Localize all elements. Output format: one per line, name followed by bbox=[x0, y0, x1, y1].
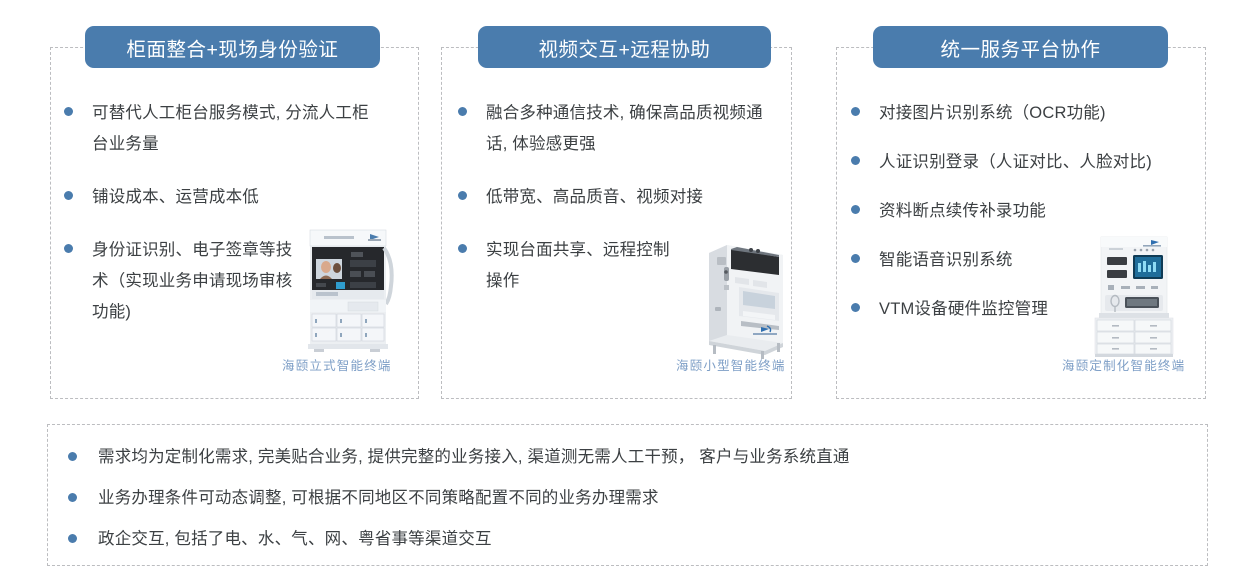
bullet-list-unified-platform: 对接图片识别系统（OCR功能) 人证识别登录（人证对比、人脸对比) 资料断点续传… bbox=[851, 98, 1201, 343]
bullet-dot-icon bbox=[64, 191, 73, 200]
bullet-dot-icon bbox=[68, 493, 77, 502]
list-item: 实现台面共享、远程控制操作 bbox=[458, 235, 788, 297]
list-item-text: 人证识别登录（人证对比、人脸对比) bbox=[879, 147, 1152, 178]
list-item-text: 铺设成本、运营成本低 bbox=[92, 182, 259, 213]
list-item-text: 融合多种通信技术, 确保高品质视频通话, 体验感更强 bbox=[486, 98, 776, 160]
bullet-dot-icon bbox=[458, 244, 467, 253]
list-item: 人证识别登录（人证对比、人脸对比) bbox=[851, 147, 1201, 178]
list-item: 融合多种通信技术, 确保高品质视频通话, 体验感更强 bbox=[458, 98, 788, 160]
list-item-text: 智能语音识别系统 bbox=[879, 245, 1013, 276]
list-item: 可替代人工柜台服务模式, 分流人工柜台业务量 bbox=[64, 98, 409, 160]
list-item: 政企交互, 包括了电、水、气、网、粤省事等渠道交互 bbox=[68, 522, 1188, 555]
list-item: 业务办理条件可动态调整, 可根据不同地区不同策略配置不同的业务办理需求 bbox=[68, 481, 1188, 514]
list-item-text: VTM设备硬件监控管理 bbox=[879, 294, 1048, 325]
list-item-text: 身份证识别、电子签章等技术（实现业务申请现场审核功能) bbox=[92, 235, 300, 328]
list-item-text: 需求均为定制化需求, 完美贴合业务, 提供完整的业务接入, 渠道测无需人工干预，… bbox=[98, 445, 850, 469]
list-item-text: 业务办理条件可动态调整, 可根据不同地区不同策略配置不同的业务办理需求 bbox=[98, 486, 659, 510]
list-item: 智能语音识别系统 bbox=[851, 245, 1201, 276]
device-caption-standing: 海颐立式智能终端 bbox=[282, 355, 392, 374]
bullet-dot-icon bbox=[68, 534, 77, 543]
list-item: 对接图片识别系统（OCR功能) bbox=[851, 98, 1201, 129]
bullet-dot-icon bbox=[68, 452, 77, 461]
bullet-dot-icon bbox=[851, 205, 860, 214]
bullet-dot-icon bbox=[851, 254, 860, 263]
bullet-dot-icon bbox=[64, 244, 73, 253]
list-item-text: 可替代人工柜台服务模式, 分流人工柜台业务量 bbox=[92, 98, 382, 160]
card-header-cabinet-integration: 柜面整合+现场身份验证 bbox=[85, 26, 380, 68]
slide-root: 柜面整合+现场身份验证 可替代人工柜台服务模式, 分流人工柜台业务量 铺设成本、… bbox=[0, 0, 1241, 586]
summary-bullet-list: 需求均为定制化需求, 完美贴合业务, 提供完整的业务接入, 渠道测无需人工干预，… bbox=[68, 440, 1188, 563]
device-caption-customized: 海颐定制化智能终端 bbox=[1062, 355, 1185, 374]
bullet-dot-icon bbox=[851, 303, 860, 312]
bullet-dot-icon bbox=[64, 107, 73, 116]
list-item: 铺设成本、运营成本低 bbox=[64, 182, 409, 213]
list-item: VTM设备硬件监控管理 bbox=[851, 294, 1201, 325]
bullet-dot-icon bbox=[851, 107, 860, 116]
list-item-text: 资料断点续传补录功能 bbox=[879, 196, 1046, 227]
bullet-dot-icon bbox=[458, 107, 467, 116]
list-item-text: 低带宽、高品质音、视频对接 bbox=[486, 182, 703, 213]
list-item: 资料断点续传补录功能 bbox=[851, 196, 1201, 227]
bullet-list-cabinet-integration: 可替代人工柜台服务模式, 分流人工柜台业务量 铺设成本、运营成本低 身份证识别、… bbox=[64, 98, 409, 350]
bullet-dot-icon bbox=[851, 156, 860, 165]
list-item: 身份证识别、电子签章等技术（实现业务申请现场审核功能) bbox=[64, 235, 409, 328]
card-header-video-interaction: 视频交互+远程协助 bbox=[478, 26, 771, 68]
list-item-text: 政企交互, 包括了电、水、气、网、粤省事等渠道交互 bbox=[98, 527, 492, 551]
bullet-list-video-interaction: 融合多种通信技术, 确保高品质视频通话, 体验感更强 低带宽、高品质音、视频对接… bbox=[458, 98, 788, 319]
list-item: 低带宽、高品质音、视频对接 bbox=[458, 182, 788, 213]
list-item: 需求均为定制化需求, 完美贴合业务, 提供完整的业务接入, 渠道测无需人工干预，… bbox=[68, 440, 1188, 473]
card-header-unified-platform: 统一服务平台协作 bbox=[873, 26, 1168, 68]
bullet-dot-icon bbox=[458, 191, 467, 200]
device-caption-compact: 海颐小型智能终端 bbox=[676, 355, 786, 374]
list-item-text: 实现台面共享、远程控制操作 bbox=[486, 235, 676, 297]
list-item-text: 对接图片识别系统（OCR功能) bbox=[879, 98, 1106, 129]
